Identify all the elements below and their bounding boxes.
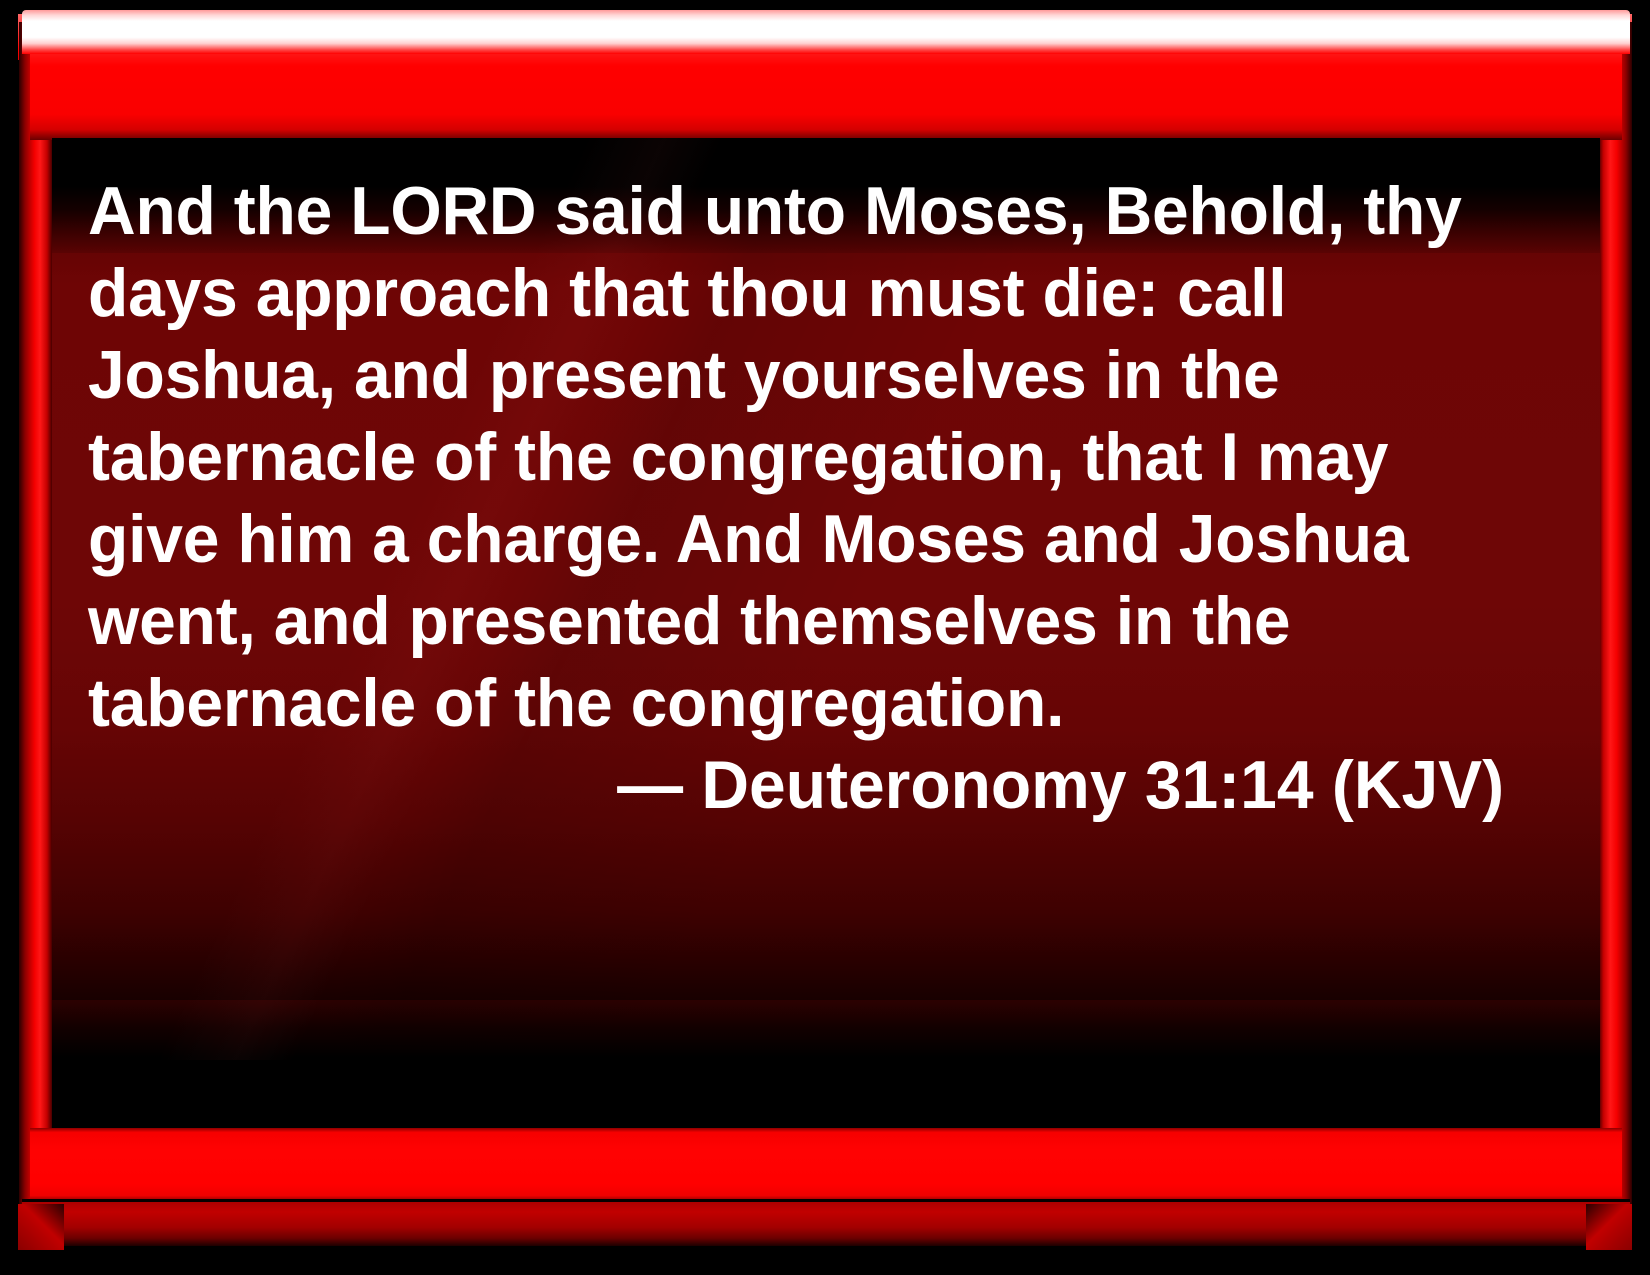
verse-citation: — Deuteronomy 31:14 (KJV) [131,744,1508,826]
frame-top-red-band [30,54,1622,140]
verse-line: tabernacle of the congregation, that I m… [88,416,1465,498]
verse-line: went, and presented themselves in the [88,580,1465,662]
frame-rail-left [19,22,53,1250]
frame-rail-right [1598,22,1632,1250]
frame-top-highlight [22,10,1630,54]
verse-text-block: And the LORD said unto Moses, Behold, th… [88,170,1508,826]
verse-slide: And the LORD said unto Moses, Behold, th… [0,0,1650,1275]
verse-line: days approach that thou must die: call [88,252,1465,334]
verse-line: tabernacle of the congregation. [88,662,1465,744]
frame-bottom-red-band [30,1128,1622,1200]
content-panel-bottom-shade [52,1000,1600,1128]
verse-line: give him a charge. And Moses and Joshua [88,498,1465,580]
verse-line: And the LORD said unto Moses, Behold, th… [88,170,1465,252]
verse-line: Joshua, and present yourselves in the [88,334,1465,416]
frame-bottom-plinth [22,1202,1630,1246]
